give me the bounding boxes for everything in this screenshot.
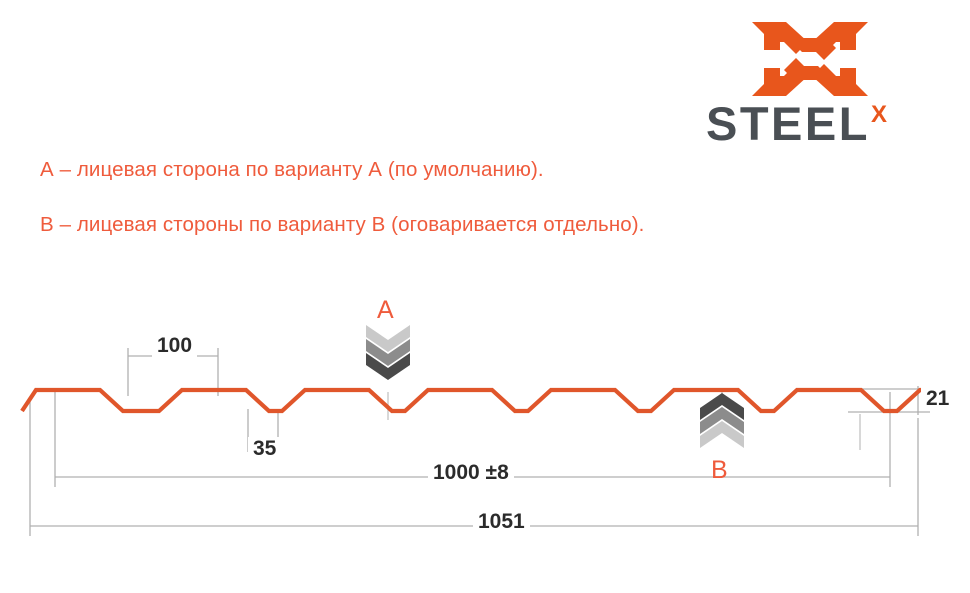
dimension-label-total-width: 1051	[473, 510, 530, 534]
dimension-label-valley: 35	[248, 437, 281, 461]
variant-a-letter: А	[377, 296, 394, 325]
brand-wordmark: STEEL X	[706, 102, 946, 148]
dimension-label-working-width: 1000 ±8	[428, 461, 514, 485]
dimension-label-height: 21	[921, 387, 954, 411]
variant-b-chevron-marker	[700, 393, 744, 448]
legend-line-variant-a: А – лицевая сторона по варианту А (по ум…	[40, 158, 544, 182]
brand-wordmark-text: STEEL	[706, 102, 870, 146]
legend-line-variant-b: В – лицевая стороны по варианту В (огова…	[40, 213, 644, 237]
dimension-label-pitch: 100	[152, 334, 197, 358]
brand-wordmark-superscript: X	[871, 103, 887, 127]
dimension-lines-group	[30, 348, 930, 536]
variant-b-letter: В	[711, 456, 728, 485]
corrugated-profile-path	[22, 390, 948, 411]
variant-a-chevron-marker	[366, 325, 410, 380]
brand-logo: STEEL X	[706, 14, 946, 146]
